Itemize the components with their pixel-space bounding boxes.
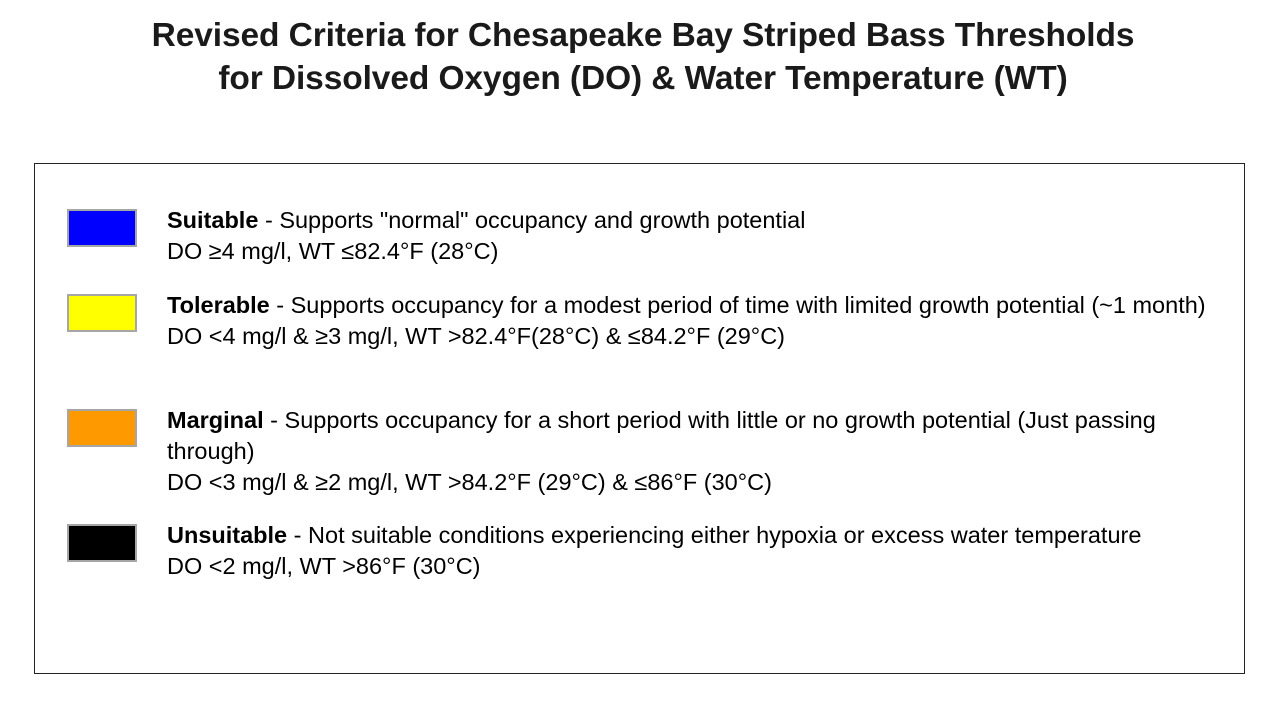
legend-item-unsuitable-description-line: Unsuitable - Not suitable conditions exp…	[167, 520, 1224, 551]
legend-item-unsuitable-term: Unsuitable	[167, 522, 287, 548]
legend-item-unsuitable-description: Not suitable conditions experiencing eit…	[308, 522, 1141, 548]
legend-item-unsuitable-thresholds: DO <2 mg/l, WT >86°F (30°C)	[167, 551, 1224, 582]
legend-item-suitable-thresholds: DO ≥4 mg/l, WT ≤82.4°F (28°C)	[167, 236, 1224, 267]
legend-item-suitable-separator: -	[258, 207, 279, 233]
legend-item-tolerable-description: Supports occupancy for a modest period o…	[291, 292, 1206, 318]
legend-item-tolerable-separator: -	[270, 292, 291, 318]
legend-item-unsuitable-separator: -	[287, 522, 308, 548]
page-title-line-2: for Dissolved Oxygen (DO) & Water Temper…	[0, 57, 1286, 100]
legend-item-marginal-term: Marginal	[167, 407, 264, 433]
legend-item-marginal-text: Marginal - Supports occupancy for a shor…	[167, 405, 1224, 498]
legend-item-suitable-description: Supports "normal" occupancy and growth p…	[279, 207, 805, 233]
legend-item-tolerable-thresholds: DO <4 mg/l & ≥3 mg/l, WT >82.4°F(28°C) &…	[167, 321, 1224, 352]
legend-item-tolerable-text: Tolerable - Supports occupancy for a mod…	[167, 290, 1224, 352]
legend-item-marginal-description-line: Marginal - Supports occupancy for a shor…	[167, 405, 1224, 467]
legend-item-tolerable-description-line: Tolerable - Supports occupancy for a mod…	[167, 290, 1224, 321]
legend-item-suitable-term: Suitable	[167, 207, 258, 233]
yellow-swatch	[67, 294, 137, 332]
legend-item-marginal-description: Supports occupancy for a short period wi…	[167, 407, 1156, 464]
legend-item-tolerable-term: Tolerable	[167, 292, 270, 318]
legend-item-marginal-thresholds: DO <3 mg/l & ≥2 mg/l, WT >84.2°F (29°C) …	[167, 467, 1224, 498]
page-title-line-1: Revised Criteria for Chesapeake Bay Stri…	[0, 14, 1286, 57]
orange-swatch	[67, 409, 137, 447]
legend-item-unsuitable-text: Unsuitable - Not suitable conditions exp…	[167, 520, 1224, 582]
legend-panel: Suitable - Supports "normal" occupancy a…	[34, 163, 1245, 674]
page-title: Revised Criteria for Chesapeake Bay Stri…	[0, 14, 1286, 100]
black-swatch	[67, 524, 137, 562]
blue-swatch	[67, 209, 137, 247]
legend-item-suitable-description-line: Suitable - Supports "normal" occupancy a…	[167, 205, 1224, 236]
legend-item-marginal-separator: -	[264, 407, 285, 433]
legend-item-suitable-text: Suitable - Supports "normal" occupancy a…	[167, 205, 1224, 267]
